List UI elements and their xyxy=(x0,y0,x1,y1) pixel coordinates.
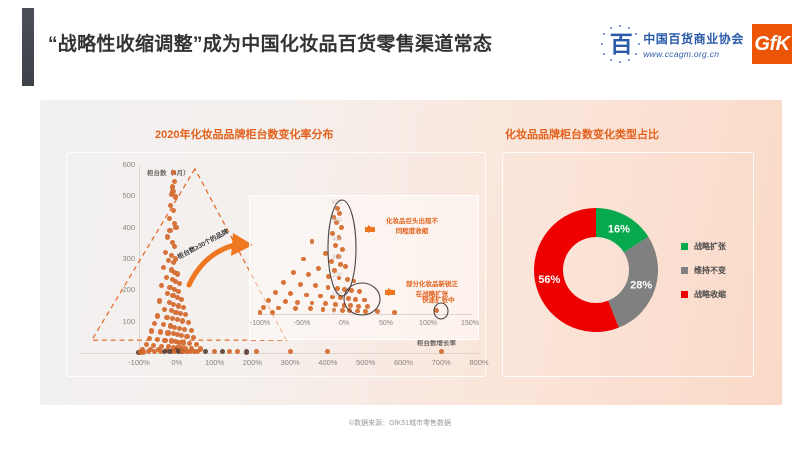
scatter-point xyxy=(189,328,194,333)
inset-scatter-point xyxy=(342,303,347,308)
inset-scatter-point xyxy=(342,287,347,292)
inset-scatter-point xyxy=(323,301,328,306)
scatter-point xyxy=(167,216,172,221)
donut-svg: 16%28%56% xyxy=(521,195,671,345)
donut-slice-label: 16% xyxy=(608,223,630,235)
scatter-x-tick: 600% xyxy=(389,358,417,367)
inset-highlight-ellipses xyxy=(250,196,480,341)
scatter-point xyxy=(165,234,170,239)
scatter-x-tick: 700% xyxy=(427,358,455,367)
scatter-point xyxy=(164,315,169,320)
legend-swatch-icon xyxy=(681,243,688,250)
scatter-point xyxy=(203,349,208,354)
inset-scatter-point xyxy=(261,305,266,310)
scatter-point xyxy=(179,297,184,302)
inset-scatter-point xyxy=(316,266,321,271)
inset-scatter-point xyxy=(293,306,298,311)
scatter-point xyxy=(173,225,178,230)
scatter-x-tick: 800% xyxy=(465,358,493,367)
inset-scatter-point xyxy=(295,300,300,305)
annotation-3: 快速扩张中 xyxy=(422,296,455,306)
annotation-1: 化妆品巨头出现不 同程度收缩 xyxy=(386,217,438,237)
inset-x-tick: 150% xyxy=(455,320,485,327)
legend-swatch-icon xyxy=(681,291,688,298)
inset-x-tick: 100% xyxy=(413,320,443,327)
scatter-x-tick: 500% xyxy=(352,358,380,367)
scatter-x-tick: 300% xyxy=(276,358,304,367)
inset-scatter-point xyxy=(335,286,340,291)
annotation-arrow-1-icon xyxy=(368,225,375,233)
inset-scatter-point xyxy=(318,294,323,299)
scatter-point xyxy=(184,334,189,339)
inset-y-tick: 300 xyxy=(332,255,342,261)
inset-scatter-point xyxy=(283,299,288,304)
legend-label: 维持不变 xyxy=(694,265,726,276)
inset-scatter-point xyxy=(276,306,281,311)
scatter-point xyxy=(212,349,217,354)
inset-scatter-point xyxy=(362,298,367,303)
inset-scatter-point xyxy=(333,302,338,307)
scatter-point xyxy=(288,349,293,354)
donut-chart-panel: 16%28%56% 战略扩张维持不变战略收缩 xyxy=(502,152,754,377)
inset-scatter-point xyxy=(326,274,331,279)
scatter-point xyxy=(244,349,249,354)
legend-swatch-icon xyxy=(681,267,688,274)
scatter-point xyxy=(163,250,168,255)
inset-scatter-point xyxy=(291,270,296,275)
scatter-point xyxy=(439,349,444,354)
scatter-point xyxy=(175,271,180,276)
right-chart-title: 化妆品品牌柜台数变化类型占比 xyxy=(505,126,659,142)
scatter-x-tick: -100% xyxy=(125,358,153,367)
page-title: “战略性收缩调整”成为中国化妆品百货零售渠道常态 xyxy=(48,29,492,56)
inset-scatter-point xyxy=(288,291,293,296)
scatter-point xyxy=(165,330,170,335)
inset-scatter-point xyxy=(357,289,362,294)
inset-y-tick: 400 xyxy=(332,237,342,243)
inset-scatter-point xyxy=(337,211,342,216)
annotation-arrow-2-icon xyxy=(388,288,395,296)
scatter-point xyxy=(172,179,177,184)
scatter-chart-panel: 600500400300200100 -100%0%100%200%300%40… xyxy=(66,152,486,377)
inset-y-tick: 600 xyxy=(332,200,342,206)
donut-legend: 战略扩张维持不变战略收缩 xyxy=(681,241,726,313)
inset-scatter-point xyxy=(321,307,326,312)
scatter-point xyxy=(220,349,225,354)
inset-scatter-point xyxy=(349,288,354,293)
slide-header: “战略性收缩调整”成为中国化妆品百货零售渠道常态 百 中国百货商业协会 xyxy=(0,0,800,92)
left-chart-title: 2020年化妆品品牌柜台数变化率分布 xyxy=(155,126,333,142)
inset-scatter-point xyxy=(281,280,286,285)
donut-slice-label: 56% xyxy=(538,274,560,286)
scatter-x-tick: 200% xyxy=(238,358,266,367)
inset-x-tick: -100% xyxy=(245,320,275,327)
ccagm-logo: 百 中国百货商业协会 www.ccagm.org.cn xyxy=(601,22,744,66)
ccagm-url: www.ccagm.org.cn xyxy=(643,49,744,59)
scatter-point xyxy=(157,298,162,303)
scatter-point xyxy=(186,320,191,325)
scatter-plot: 600500400300200100 -100%0%100%200%300%40… xyxy=(67,153,485,376)
inset-scatter-point xyxy=(339,225,344,230)
inset-scatter-point xyxy=(304,293,309,298)
inset-scatter-point xyxy=(434,308,439,313)
inset-scatter-point xyxy=(313,283,318,288)
inset-scatter-point xyxy=(308,306,313,311)
inset-x-tick: -50% xyxy=(287,320,317,327)
inset-x-axis xyxy=(258,314,472,315)
legend-item[interactable]: 维持不变 xyxy=(681,265,726,276)
inset-y-tick: 200 xyxy=(332,273,342,279)
scatter-x-tick: 100% xyxy=(201,358,229,367)
logo-group: 百 中国百货商业协会 www.ccagm.org.cn GfK xyxy=(601,22,792,66)
inset-scatter-point xyxy=(345,277,350,282)
inset-scatter-point xyxy=(310,239,315,244)
scatter-point xyxy=(155,337,160,342)
gfk-logo: GfK xyxy=(752,24,792,64)
slide: “战略性收缩调整”成为中国化妆品百货零售渠道常态 百 中国百货商业协会 xyxy=(0,0,800,450)
scatter-point xyxy=(167,228,172,233)
inset-x-tick: 0% xyxy=(329,320,359,327)
scatter-point xyxy=(173,194,178,199)
scatter-point xyxy=(152,349,157,354)
inset-scatter-point xyxy=(330,231,335,236)
scatter-point xyxy=(162,338,167,343)
inset-scatter-point xyxy=(355,309,360,314)
inset-y-tick: 0 xyxy=(332,310,335,316)
donut-slice-label: 28% xyxy=(630,280,652,292)
inset-scatter-point xyxy=(266,298,271,303)
inset-y-tick: 100 xyxy=(332,292,342,298)
inset-scatter-point xyxy=(323,251,328,256)
inset-scatter-point xyxy=(392,310,397,315)
inset-scatter-point xyxy=(298,282,303,287)
inset-scatter-point xyxy=(310,301,315,306)
content-card: 2020年化妆品品牌柜台数变化率分布 化妆品品牌柜台数变化类型占比 600500… xyxy=(40,100,782,405)
inset-x-tick: 50% xyxy=(371,320,401,327)
inset-scatter-point xyxy=(346,296,351,301)
scatter-point xyxy=(162,307,167,312)
scatter-point xyxy=(180,318,185,323)
scatter-point xyxy=(182,327,187,332)
inset-scatter-point xyxy=(353,297,358,302)
zoom-inset-panel: 6005004003002001000 -100%-50%0%50%100%15… xyxy=(249,195,479,340)
legend-item[interactable]: 战略扩张 xyxy=(681,241,726,252)
donut-chart: 16%28%56% xyxy=(521,195,671,345)
gfk-logo-text: GfK xyxy=(752,24,792,64)
inset-scatter-point xyxy=(273,290,278,295)
scatter-point xyxy=(171,208,176,213)
header-accent-bar xyxy=(22,8,34,86)
inset-scatter-point xyxy=(333,243,338,248)
scatter-point xyxy=(254,349,259,354)
ccagm-emblem-icon: 百 xyxy=(601,24,641,64)
scatter-x-tick: 400% xyxy=(314,358,342,367)
scatter-x-tick: 0% xyxy=(163,358,191,367)
legend-label: 战略扩张 xyxy=(694,241,726,252)
inset-scatter-point xyxy=(343,264,348,269)
inset-scatter-point xyxy=(270,310,275,315)
inset-scatter-point xyxy=(347,308,352,313)
inset-scatter-point xyxy=(301,257,306,262)
inset-scatter-point xyxy=(326,285,331,290)
legend-label: 战略收缩 xyxy=(694,289,726,300)
scatter-point xyxy=(178,311,183,316)
inset-scatter-point xyxy=(352,279,357,284)
source-note: ©数据来源：GfK51城市零售数据 xyxy=(0,418,800,428)
inset-scatter-point xyxy=(356,304,361,309)
inset-scatter-point xyxy=(306,272,311,277)
ccagm-name: 中国百货商业协会 xyxy=(643,30,744,47)
inset-y-tick: 500 xyxy=(332,218,342,224)
legend-item[interactable]: 战略收缩 xyxy=(681,289,726,300)
ccagm-char: 百 xyxy=(609,30,633,58)
inset-scatter-point xyxy=(340,247,345,252)
inset-scatter-point xyxy=(340,308,345,313)
